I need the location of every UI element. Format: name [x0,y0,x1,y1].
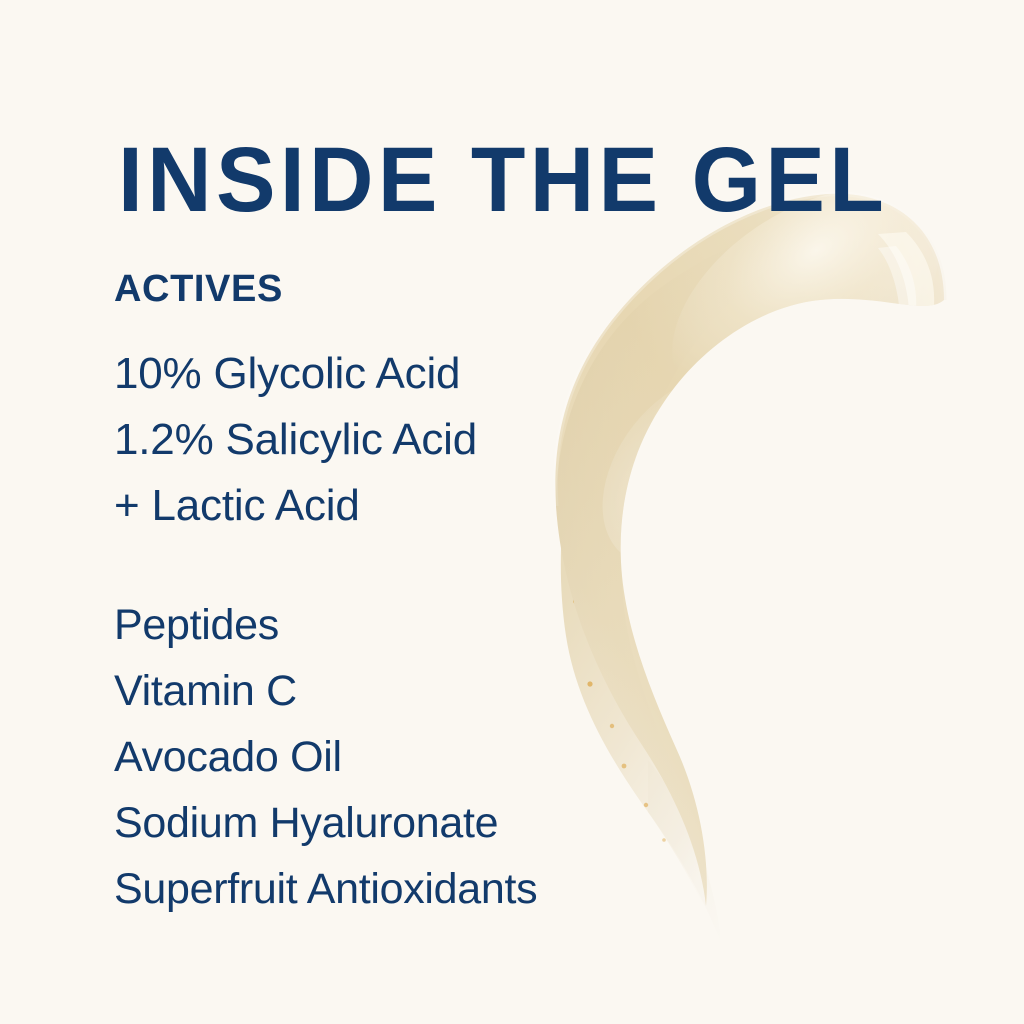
list-item: Sodium Hyaluronate [114,790,814,856]
list-item: + Lactic Acid [114,473,674,539]
actives-list: 10% Glycolic Acid 1.2% Salicylic Acid + … [114,341,674,539]
list-item: 10% Glycolic Acid [114,341,674,407]
supporting-ingredients-list: Peptides Vitamin C Avocado Oil Sodium Hy… [114,592,814,922]
list-item: Superfruit Antioxidants [114,856,814,922]
list-item: Vitamin C [114,658,814,724]
actives-section: ACTIVES 10% Glycolic Acid 1.2% Salicylic… [114,268,674,539]
poster-content: INSIDE THE GEL ACTIVES 10% Glycolic Acid… [0,0,1024,1024]
actives-heading: ACTIVES [114,268,674,311]
list-item: 1.2% Salicylic Acid [114,407,674,473]
list-item: Peptides [114,592,814,658]
page-title: INSIDE THE GEL [118,134,888,226]
list-item: Avocado Oil [114,724,814,790]
supporting-ingredients-section: Peptides Vitamin C Avocado Oil Sodium Hy… [114,592,814,922]
poster-canvas: INSIDE THE GEL ACTIVES 10% Glycolic Acid… [0,0,1024,1024]
